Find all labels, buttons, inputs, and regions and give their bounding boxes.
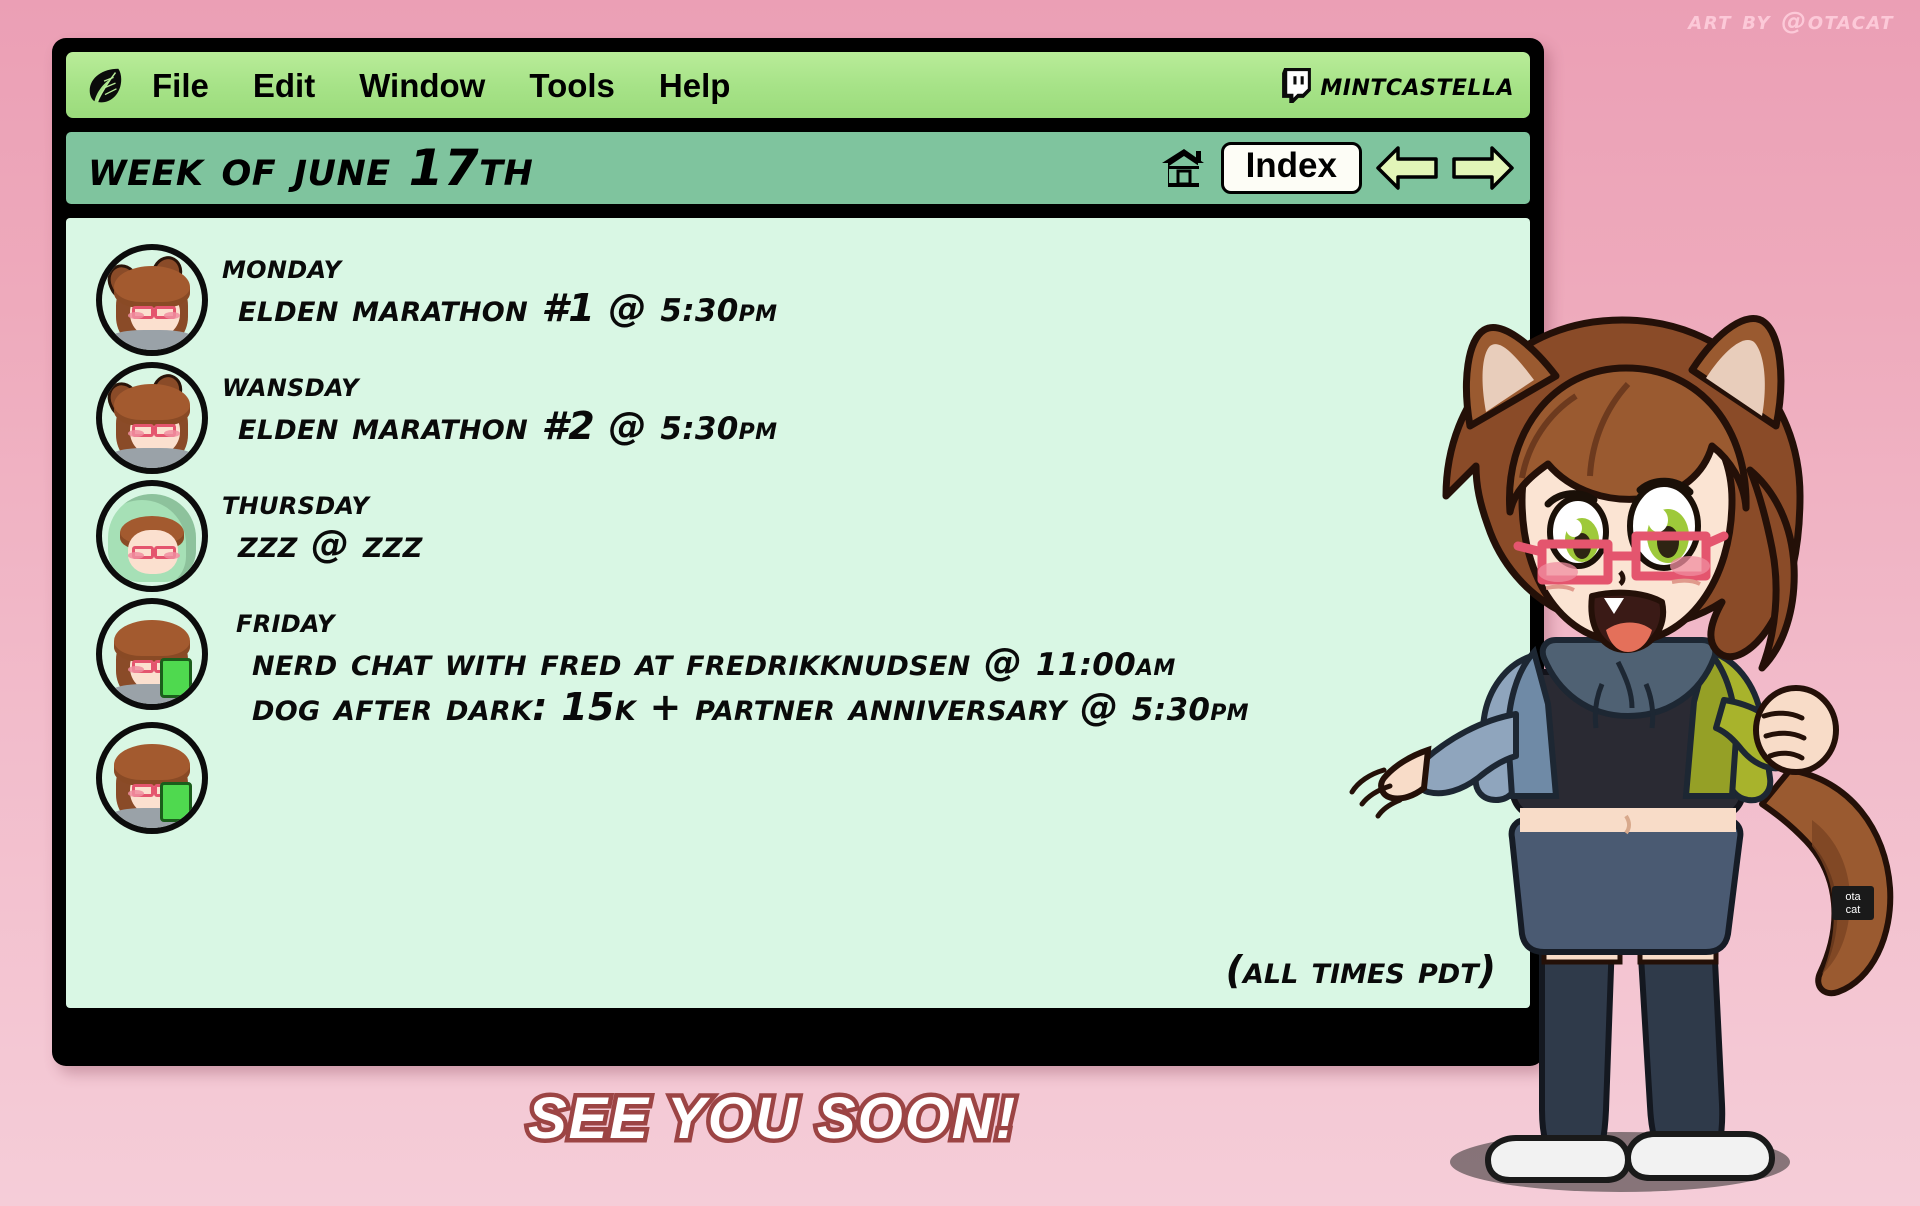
twitch-icon bbox=[1280, 68, 1313, 103]
avatar-emote-drink bbox=[96, 722, 208, 834]
svg-text:cat: cat bbox=[1846, 904, 1861, 916]
home-icon[interactable] bbox=[1161, 147, 1207, 189]
avatar-emote-drink bbox=[96, 598, 208, 710]
schedule-row-thursday: Thursday Zzz @ Zzz bbox=[96, 480, 1500, 592]
day-label: Friday bbox=[236, 602, 1249, 640]
event-title: Elden Marathon #2 @ bbox=[238, 404, 647, 448]
event-time: 11:00am bbox=[1036, 647, 1176, 683]
arrow-right-icon[interactable] bbox=[1452, 145, 1514, 191]
avatar-emote-wink bbox=[96, 244, 208, 356]
application-window: File Edit Window Tools Help MintCastella… bbox=[52, 38, 1544, 1066]
event-title: Dog After Dark: 15k + Partner Anniversar… bbox=[252, 685, 1118, 729]
schedule-row-monday: Monday Elden Marathon #1 @ 5:30pm bbox=[96, 244, 1500, 356]
brand-name: MintCastella bbox=[1320, 67, 1514, 103]
artist-credit: Art by @otacat bbox=[1688, 6, 1894, 35]
menu-item-file[interactable]: File bbox=[152, 69, 209, 102]
menu-bar: File Edit Window Tools Help MintCastella bbox=[66, 52, 1530, 118]
event-line: Elden Marathon #1 @ 5:30pm bbox=[222, 286, 777, 331]
schedule-panel: Monday Elden Marathon #1 @ 5:30pm Wansda… bbox=[66, 218, 1530, 1008]
twitch-brand[interactable]: MintCastella bbox=[1280, 67, 1514, 103]
menu-item-edit[interactable]: Edit bbox=[253, 69, 315, 102]
friday-avatar-stack bbox=[96, 598, 222, 834]
arrow-left-icon[interactable] bbox=[1376, 145, 1438, 191]
event-time: 5:30pm bbox=[1132, 692, 1249, 728]
event-time: 5:30pm bbox=[660, 293, 777, 329]
event-title: Zzz @ Zzz bbox=[238, 522, 423, 566]
menu-item-tools[interactable]: Tools bbox=[529, 69, 615, 102]
avatar-emote-wink bbox=[96, 362, 208, 474]
title-bar: Week of June 17th Index bbox=[66, 132, 1530, 204]
day-label: Wansday bbox=[222, 366, 777, 404]
event-line: Zzz @ Zzz bbox=[222, 522, 423, 567]
schedule-row-wansday: Wansday Elden Marathon #2 @ 5:30pm bbox=[96, 362, 1500, 474]
index-button[interactable]: Index bbox=[1221, 142, 1362, 194]
event-line: Elden Marathon #2 @ 5:30pm bbox=[222, 404, 777, 449]
page-title: Week of June 17th bbox=[88, 143, 533, 193]
event-title: Nerd Chat with Fred at Fredrikknudsen @ bbox=[252, 640, 1022, 684]
menu-item-window[interactable]: Window bbox=[359, 69, 485, 102]
day-label: Thursday bbox=[222, 484, 423, 522]
svg-text:ota: ota bbox=[1845, 891, 1861, 903]
event-line: Nerd Chat with Fred at Fredrikknudsen @ … bbox=[236, 640, 1249, 685]
footer-message: SEE YOU SOON! bbox=[0, 1085, 1545, 1152]
timezone-note: (All times PDT) bbox=[1226, 948, 1496, 992]
event-line: Dog After Dark: 15k + Partner Anniversar… bbox=[236, 685, 1249, 730]
navigation-controls: Index bbox=[1161, 142, 1514, 194]
event-time: 5:30pm bbox=[660, 411, 777, 447]
event-title: Elden Marathon #1 @ bbox=[238, 286, 647, 330]
menu-item-help[interactable]: Help bbox=[659, 69, 731, 102]
schedule-row-friday: Friday Nerd Chat with Fred at Fredrikknu… bbox=[96, 598, 1500, 834]
avatar-emote-sleepy bbox=[96, 480, 208, 592]
day-label: Monday bbox=[222, 248, 777, 286]
leaf-icon[interactable] bbox=[84, 64, 126, 106]
